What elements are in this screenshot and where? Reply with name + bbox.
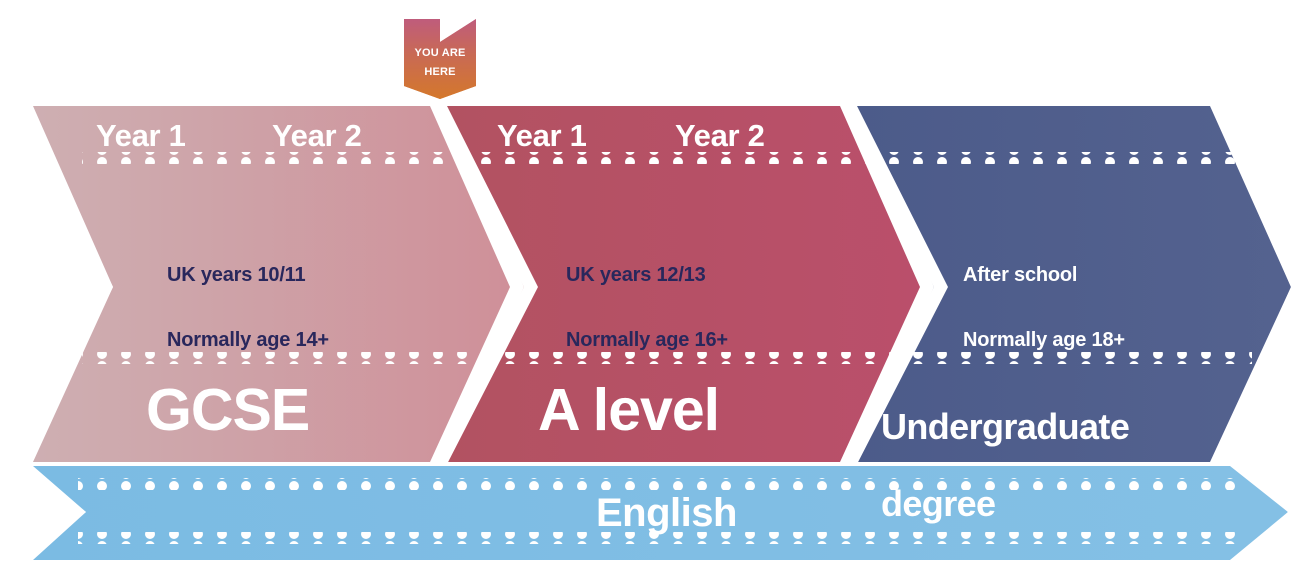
a-level-year-1-label: Year 1 xyxy=(497,118,587,154)
you-are-here-line1: YOU ARE xyxy=(400,44,480,63)
gcse-details: UK years 10/11 Normally age 14+ xyxy=(167,225,329,391)
gcse-title: GCSE xyxy=(146,376,309,444)
gcse-year-1-label: Year 1 xyxy=(96,118,186,154)
you-are-here-label: YOU ARE HERE xyxy=(400,44,480,82)
gcse-detail-line-2: Normally age 14+ xyxy=(167,326,329,355)
gcse-year-2-label: Year 2 xyxy=(272,118,362,154)
a-level-detail-line-1: UK years 12/13 xyxy=(566,261,728,290)
a-level-title: A level xyxy=(538,376,719,444)
undergraduate-degree-title-line-2: degree xyxy=(881,483,1129,524)
dotted-separator-upper xyxy=(82,152,1252,164)
a-level-detail-line-2: Normally age 16+ xyxy=(566,326,728,355)
education-pathway-diagram: YOU ARE HERE Year 1 Year 2 UK years 10/1… xyxy=(0,0,1300,567)
english-bar-label: English xyxy=(596,491,737,536)
undergraduate-degree-title: Undergraduate degree xyxy=(881,370,1129,560)
a-level-year-2-label: Year 2 xyxy=(675,118,765,154)
gcse-detail-line-1: UK years 10/11 xyxy=(167,261,329,290)
you-are-here-line2: HERE xyxy=(400,63,480,82)
undergraduate-degree-detail-line-1: After school xyxy=(963,261,1125,290)
a-level-details: UK years 12/13 Normally age 16+ xyxy=(566,225,728,391)
undergraduate-degree-title-line-1: Undergraduate xyxy=(881,406,1129,447)
undergraduate-degree-detail-line-2: Normally age 18+ xyxy=(963,326,1125,355)
undergraduate-degree-details: After school Normally age 18+ xyxy=(963,225,1125,391)
